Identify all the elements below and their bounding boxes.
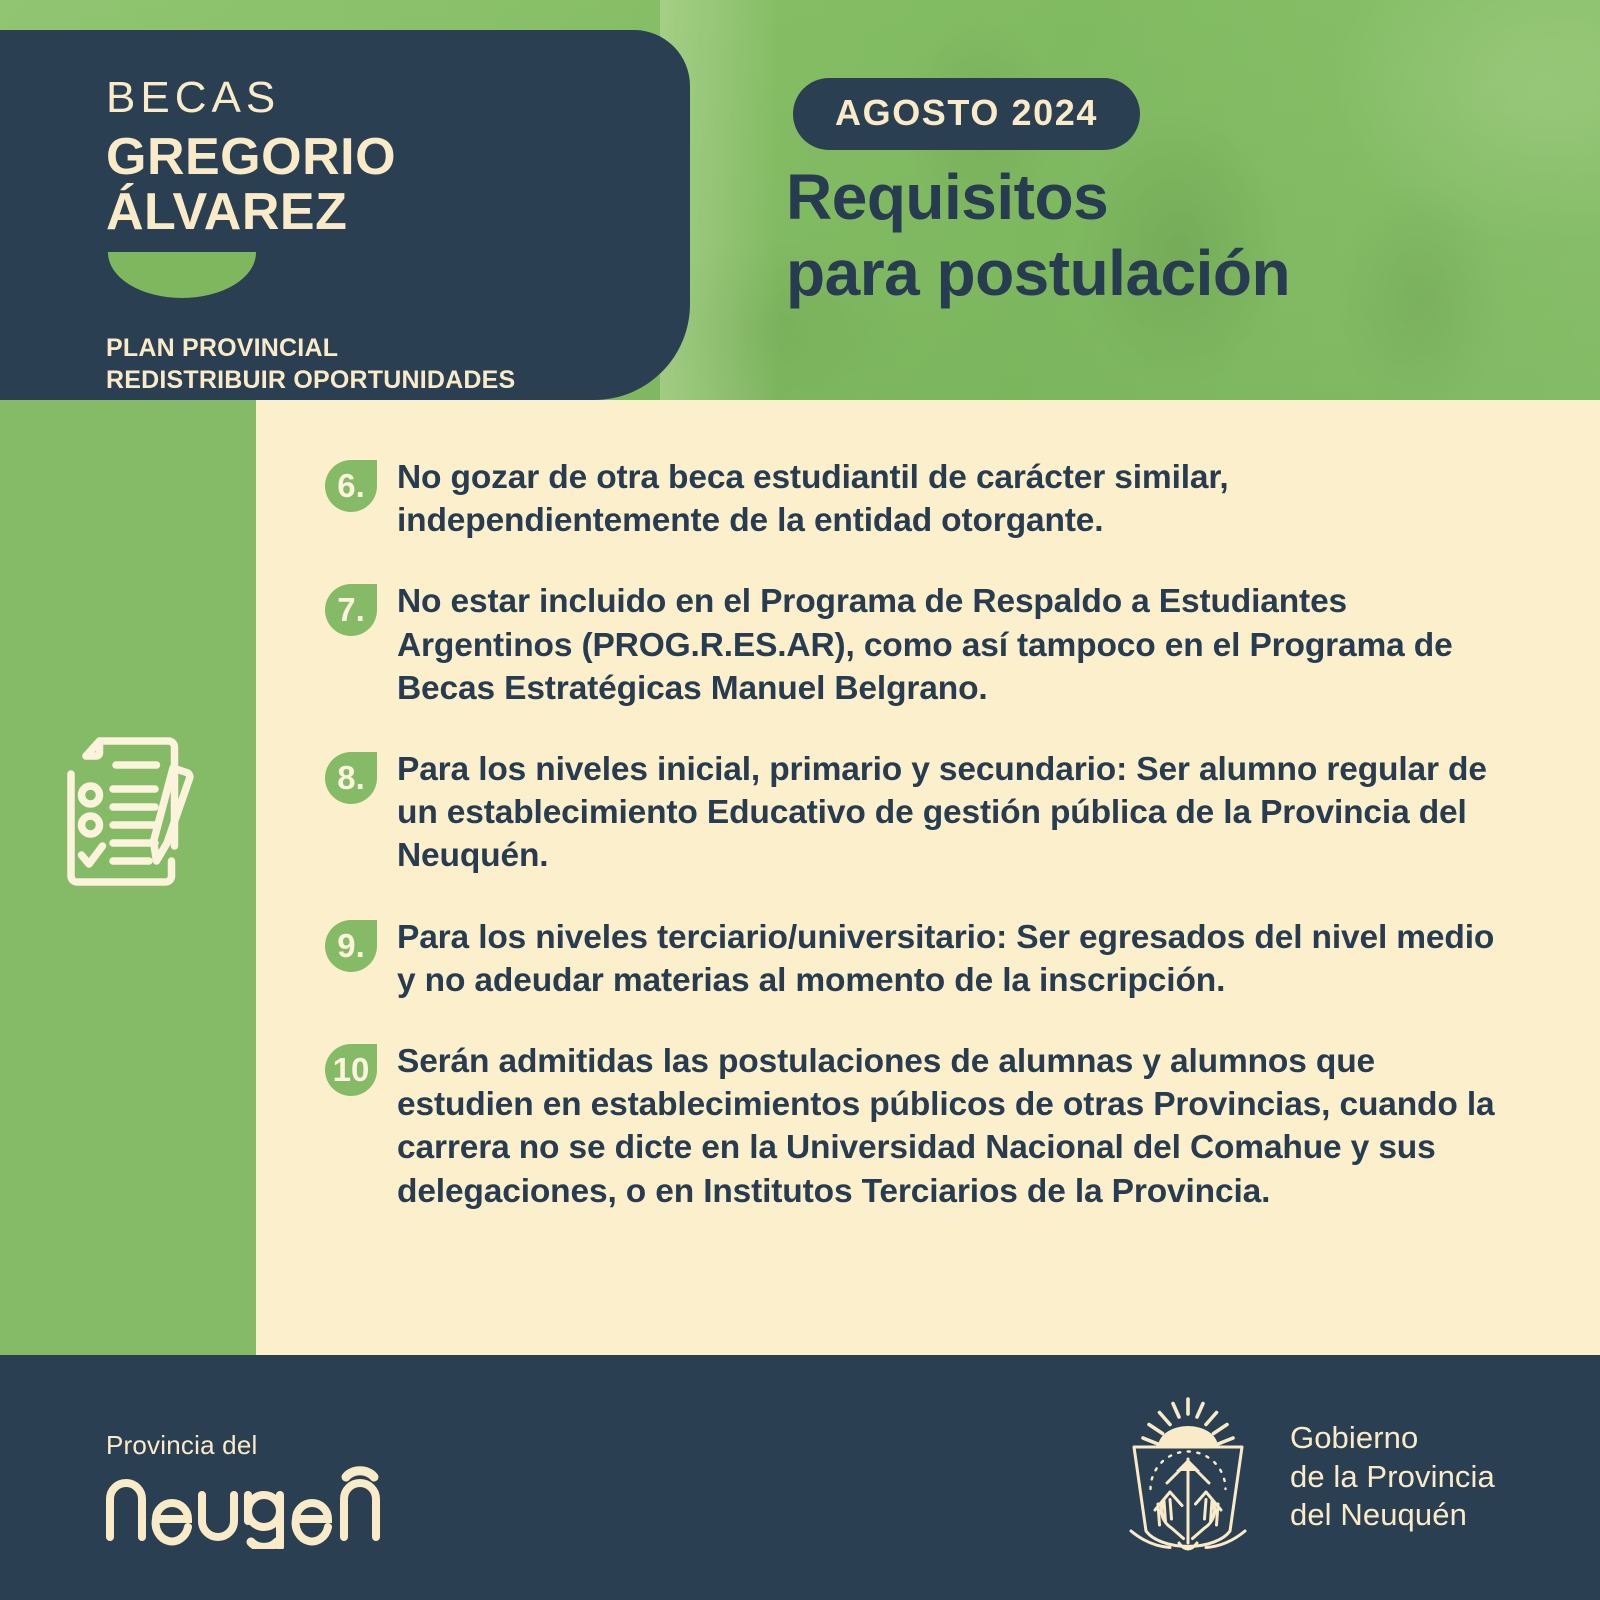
brand-becas-label: BECAS [106,76,690,120]
list-item-number: 10 [325,1044,377,1096]
list-item-text: Para los niveles inicial, primario y sec… [397,744,1505,878]
poster-root: BECAS GREGORIO ÁLVAREZ PLAN PROVINCIAL R… [0,0,1600,1600]
checklist-document-icon [53,730,203,890]
government-line2: de la Provincia [1290,1458,1495,1497]
footer-bar: Provincia del [0,1355,1600,1600]
list-item-number: 7. [325,584,377,636]
province-brand: Provincia del [100,1430,430,1554]
smile-arc-icon [108,252,256,298]
brand-name-line2: ÁLVAREZ [106,185,690,240]
list-item-text: Para los niveles terciario/universitario… [397,912,1505,1002]
list-item-number: 6. [325,460,377,512]
list-item: 10 Serán admitidas las postulaciones de … [325,1036,1505,1213]
list-item: 7. No estar incluido en el Programa de R… [325,576,1505,710]
list-item-text: No estar incluido en el Programa de Resp… [397,576,1505,710]
neuquen-wordmark-logo [100,1459,430,1549]
brand-plan-line2: REDISTRIBUIR OPORTUNIDADES [106,364,690,396]
government-line1: Gobierno [1290,1419,1495,1458]
left-green-rail [0,400,256,1355]
brand-logo-card: BECAS GREGORIO ÁLVAREZ PLAN PROVINCIAL R… [0,30,690,400]
brand-plan-line1: PLAN PROVINCIAL [106,332,690,364]
date-badge: AGOSTO 2024 [793,78,1140,150]
list-item-number: 8. [325,752,377,804]
government-line3: del Neuquén [1290,1496,1495,1535]
list-item-text: Serán admitidas las postulaciones de alu… [397,1036,1505,1213]
government-brand: Gobierno de la Provincia del Neuquén [1112,1393,1495,1561]
list-item-text: No gozar de otra beca estudiantil de car… [397,452,1505,542]
list-item: 9. Para los niveles terciario/universita… [325,912,1505,1002]
requirements-list: 6. No gozar de otra beca estudiantil de … [325,452,1505,1247]
list-item-number: 9. [325,920,377,972]
neuquen-coat-of-arms-icon [1112,1393,1264,1561]
brand-name-line1: GREGORIO [106,130,690,185]
page-title-line1: Requisitos [786,160,1290,236]
page-title-line2: para postulación [786,236,1290,312]
province-small-label: Provincia del [106,1430,430,1461]
page-title: Requisitos para postulación [786,160,1290,311]
list-item: 6. No gozar de otra beca estudiantil de … [325,452,1505,542]
list-item: 8. Para los niveles inicial, primario y … [325,744,1505,878]
